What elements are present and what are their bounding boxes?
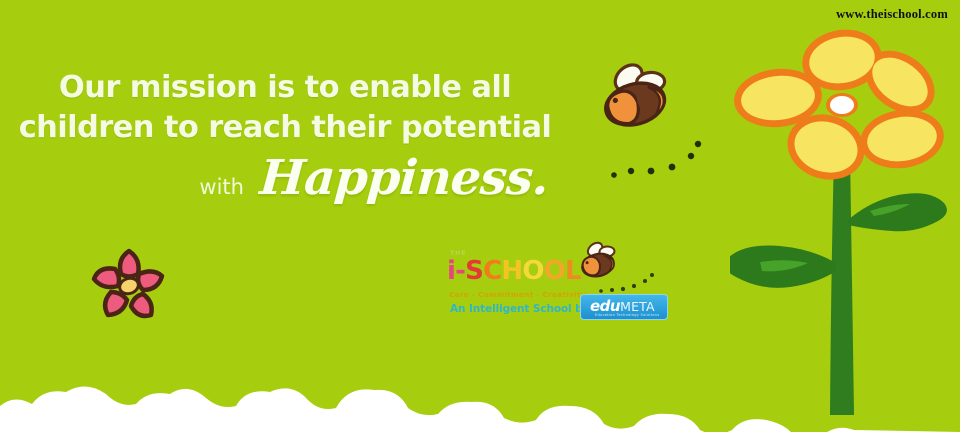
bee-icon [588,56,688,136]
edumeta-meta: META [620,299,655,314]
flower-leaf-right [848,193,947,231]
mission-emphasis-row: with Happiness. [0,150,570,206]
logo-letter-0: i [447,257,455,285]
pink-flower-graphic [88,243,170,325]
logo-letter-1: - [455,257,465,285]
yellow-flower-graphic [730,15,960,415]
edumeta-badge[interactable]: eduMETA Education Technology Solutions [580,294,668,320]
flower-center [830,96,854,114]
logo-subtitle: An Intelligent School by [450,303,589,315]
logo-letter-4: H [501,257,522,285]
website-url[interactable]: www.theischool.com [836,7,948,22]
bee-trail-dots [598,140,708,188]
logo-letter-5: O [522,257,543,285]
logo-letter-3: C [483,257,501,285]
mission-line-2: children to reach their potential [0,108,570,148]
bottom-cloud-band [0,372,960,432]
logo-letter-7: L [565,257,581,285]
logo-wordmark: i-SCHOOL [447,257,581,285]
mission-line-1: Our mission is to enable all [0,68,570,108]
logo-letter-6: O [544,257,565,285]
mission-headline: Our mission is to enable all children to… [0,68,570,148]
with-label: with [199,175,244,199]
ischool-logo[interactable]: THE i-SCHOOL Care - Commitment - Creativ… [447,249,677,325]
banner-root: www.theischool.com Our mission is to ena… [0,0,960,432]
happiness-word: Happiness. [258,150,550,206]
logo-letter-2: S [465,257,483,285]
logo-tagline: Care - Commitment - Creativity [449,290,586,299]
edumeta-subtext: Education Technology Solutions [595,313,659,317]
